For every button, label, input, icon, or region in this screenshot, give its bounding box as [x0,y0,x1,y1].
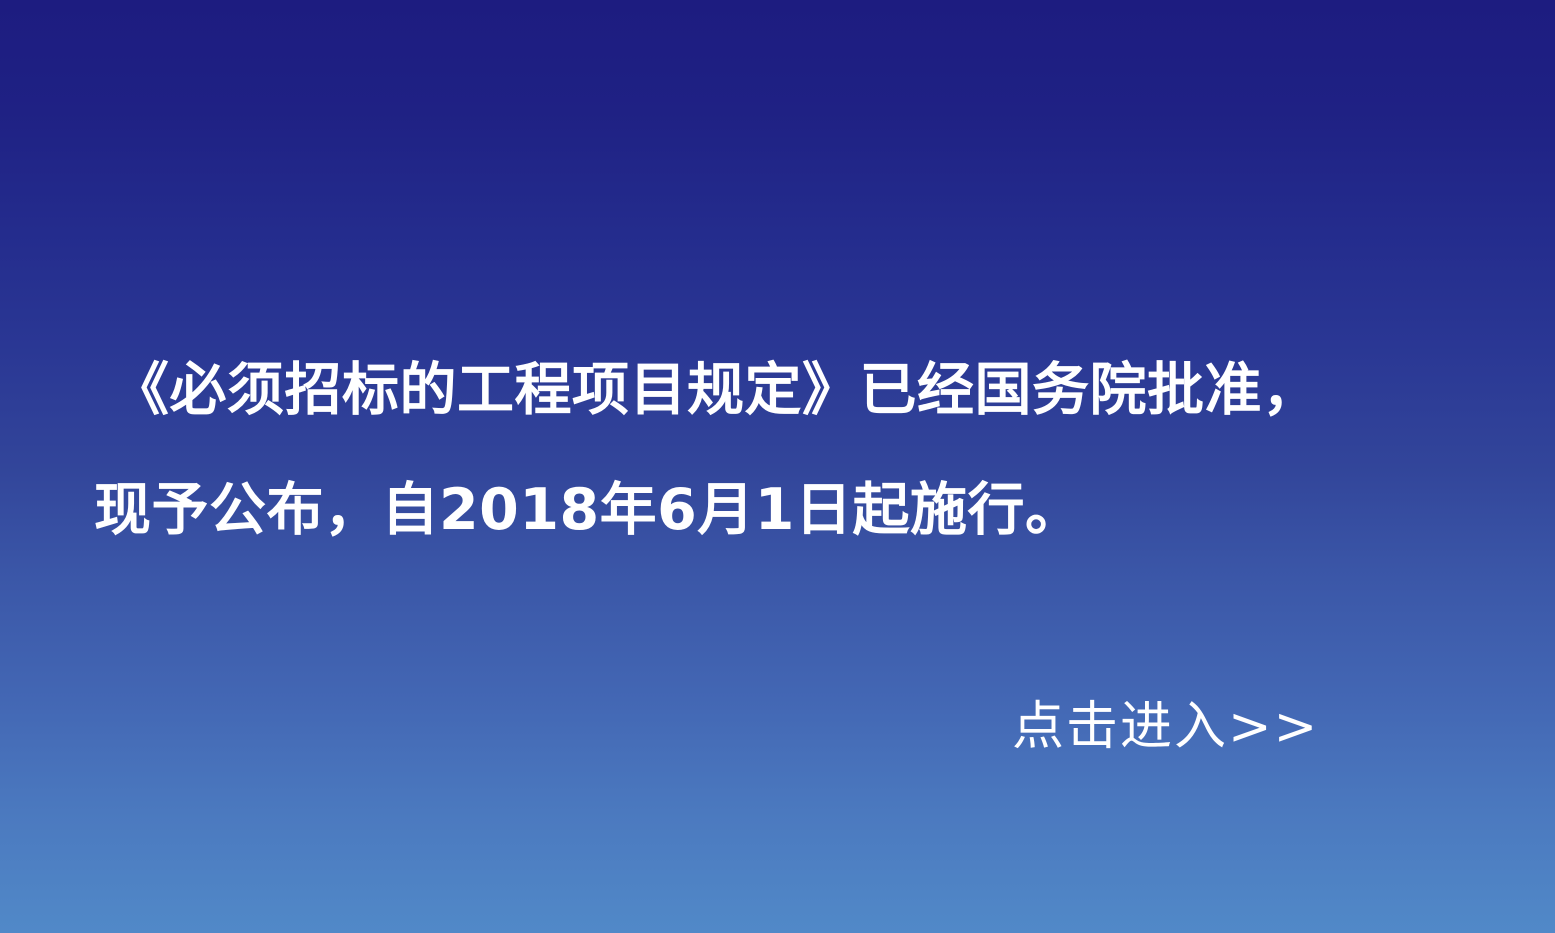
banner-slide: 《必须招标的工程项目规定》已经国务院批准， 现予公布，自2018年6月1日起施行… [0,0,1555,933]
announcement-text-block: 《必须招标的工程项目规定》已经国务院批准， 现予公布，自2018年6月1日起施行… [0,330,1555,570]
announcement-line-2: 现予公布，自2018年6月1日起施行。 [0,450,1555,570]
enter-cta-link[interactable]: 点击进入>> [1012,692,1319,762]
announcement-line-1: 《必须招标的工程项目规定》已经国务院批准， [0,330,1555,450]
